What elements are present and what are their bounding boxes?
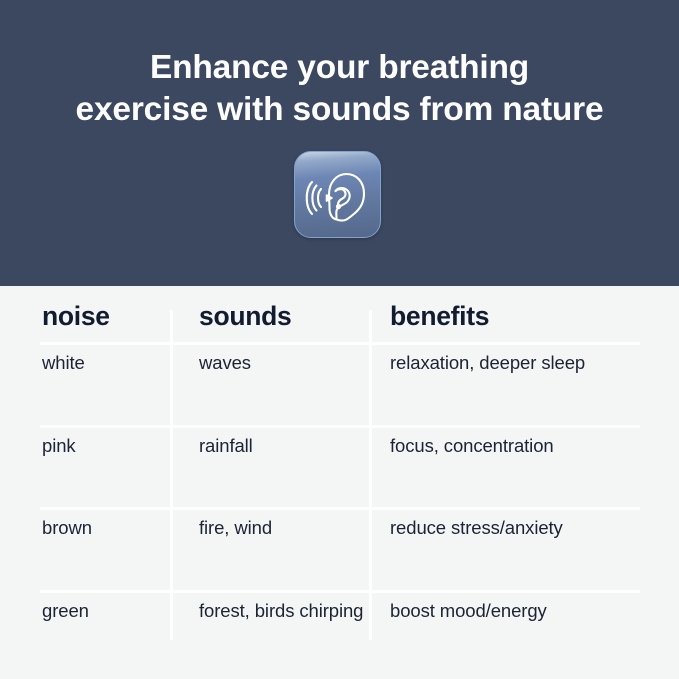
cell-noise: green xyxy=(42,598,167,623)
ear-sound-waves-icon xyxy=(294,151,381,238)
cell-sounds: waves xyxy=(199,350,365,375)
cell-noise: pink xyxy=(42,433,167,458)
column-header-benefits: benefits xyxy=(390,300,670,332)
cell-noise: white xyxy=(42,350,167,375)
row-separator-4 xyxy=(40,590,640,593)
table-header-row: noise sounds benefits xyxy=(0,300,679,340)
cell-sounds: fire, wind xyxy=(199,515,365,540)
page-title: Enhance your breathing exercise with sou… xyxy=(0,47,679,131)
row-separator-3 xyxy=(40,507,640,510)
cell-benefits: focus, concentration xyxy=(390,433,670,458)
table-row: white waves relaxation, deeper sleep xyxy=(0,350,679,390)
table-row: brown fire, wind reduce stress/anxiety xyxy=(0,515,679,555)
page-title-line-2: exercise with sounds from nature xyxy=(0,89,679,131)
cell-sounds: forest, birds chirping xyxy=(199,598,365,623)
page-title-line-1: Enhance your breathing xyxy=(0,47,679,89)
cell-benefits: reduce stress/anxiety xyxy=(390,515,670,540)
table-row: green forest, birds chirping boost mood/… xyxy=(0,598,679,638)
table-row: pink rainfall focus, concentration xyxy=(0,433,679,473)
infographic-page: Enhance your breathing exercise with sou… xyxy=(0,0,679,679)
column-header-noise: noise xyxy=(42,300,167,332)
row-separator-2 xyxy=(40,425,640,428)
cell-benefits: boost mood/energy xyxy=(390,598,670,623)
row-separator-1 xyxy=(40,342,640,345)
ear-sound-waves-glyph xyxy=(295,152,381,238)
noise-sounds-benefits-table: noise sounds benefits white waves relaxa… xyxy=(0,286,679,679)
hero-banner: Enhance your breathing exercise with sou… xyxy=(0,0,679,286)
column-header-sounds: sounds xyxy=(199,300,365,332)
cell-benefits: relaxation, deeper sleep xyxy=(390,350,670,375)
cell-sounds: rainfall xyxy=(199,433,365,458)
cell-noise: brown xyxy=(42,515,167,540)
